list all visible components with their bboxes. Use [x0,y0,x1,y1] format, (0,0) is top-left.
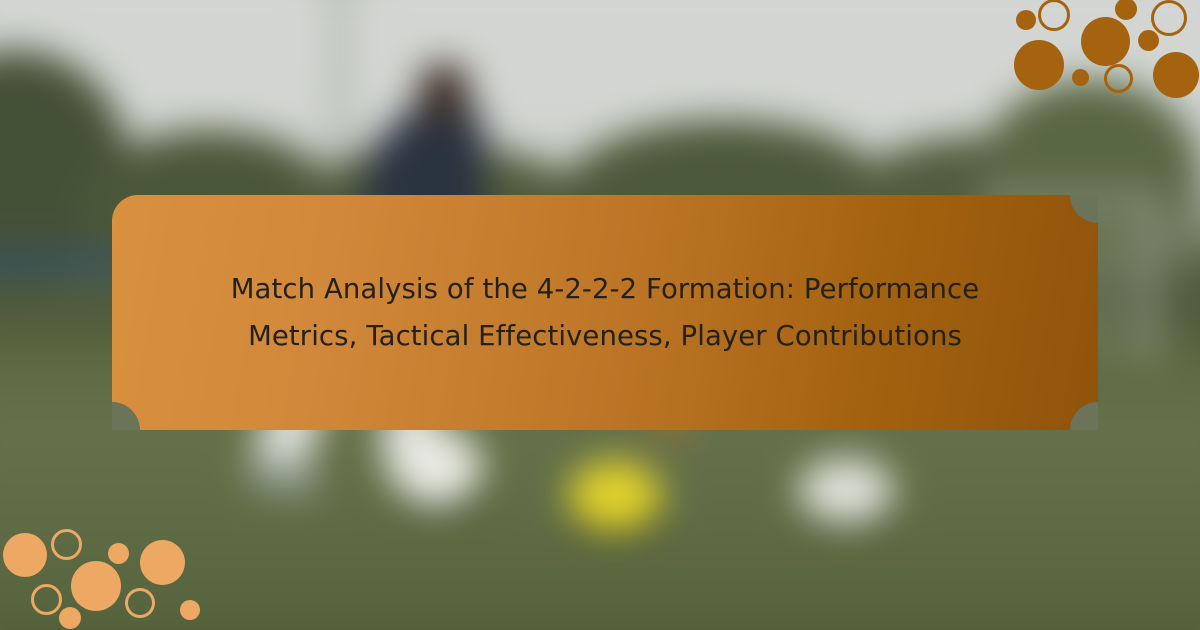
card-notch-bottom-left [112,402,140,430]
dot-top-right [1138,30,1159,51]
card-notch-top-right [1070,195,1098,223]
soccer-ball-yellow [568,460,662,532]
dot-bottom-left [3,533,47,577]
title-card: Match Analysis of the 4-2-2-2 Formation:… [112,195,1098,430]
dot-bottom-left [71,561,121,611]
decoration-dots-bottom-left [0,520,210,630]
banner-root: Match Analysis of the 4-2-2-2 Formation:… [0,0,1200,630]
dot-bottom-left [125,588,155,618]
decoration-dots-top-right [990,0,1200,105]
dot-top-right [1016,10,1036,30]
soccer-ball-white [390,428,482,506]
card-notch-bottom-right [1070,402,1098,430]
dot-bottom-left [51,529,82,560]
soccer-ball-white [798,458,894,524]
dot-top-right [1038,0,1070,31]
goal-post [1148,192,1156,362]
dot-bottom-left [31,584,62,615]
dot-top-right [1072,69,1089,86]
dot-bottom-left [59,607,81,629]
page-title: Match Analysis of the 4-2-2-2 Formation:… [187,266,1023,360]
page-title-line: Match Analysis of the 4-2-2-2 Formation:… [231,273,980,305]
dot-top-right [1104,64,1133,93]
dot-top-right [1115,0,1137,20]
dot-top-right [1151,0,1187,36]
floodlight-post [335,0,344,155]
dot-bottom-left [180,600,200,620]
dot-top-right [1153,52,1199,98]
dot-bottom-left [140,540,185,585]
player-head [418,63,470,121]
dot-bottom-left [108,543,129,564]
dot-top-right [1014,40,1064,90]
page-title-line: Metrics, Tactical Effectiveness, Player … [248,320,962,352]
dot-top-right [1081,17,1130,66]
